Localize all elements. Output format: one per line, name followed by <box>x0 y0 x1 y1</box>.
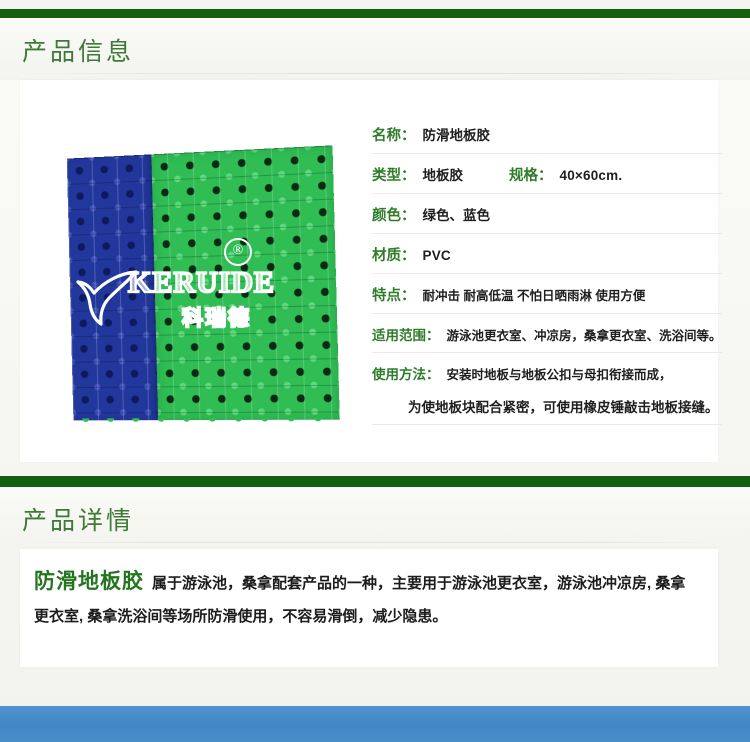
product-info-section-header: 产品信息 <box>0 18 750 80</box>
spec-value-size: 40×60cm. <box>560 168 623 183</box>
spec-label: 材质： <box>372 244 416 265</box>
spec-label-size: 规格： <box>509 164 553 185</box>
mat-grid-overlay <box>67 145 340 420</box>
mid-green-rule <box>0 476 750 487</box>
spec-value: PVC <box>423 248 451 263</box>
product-detail-section-header: 产品详情 <box>0 487 750 549</box>
spec-value: 耐冲击 耐高低温 不怕日晒雨淋 使用方便 <box>423 285 646 304</box>
spec-value: 地板胶 <box>423 164 464 184</box>
spec-label: 使用方法： <box>372 363 440 383</box>
spec-row-color: 颜色： 绿色、蓝色 <box>372 204 722 234</box>
mat-edge-connectors <box>73 418 340 428</box>
product-info-title: 产品信息 <box>22 32 134 68</box>
spec-list: 名称： 防滑地板胶 类型： 地板胶 规格： 40×60cm. 颜色： 绿色、蓝色… <box>372 124 722 435</box>
spec-row-usage: 使用方法： 安装时地板与地板公扣与母扣衔接而成， 为使地板块配合紧密，可使用橡皮… <box>372 363 722 425</box>
spec-value: 防滑地板胶 <box>423 124 491 144</box>
spec-row-type: 类型： 地板胶 规格： 40×60cm. <box>372 164 722 194</box>
spec-value: 绿色、蓝色 <box>423 204 491 224</box>
spec-row-applications: 适用范围： 游泳池更衣室、冲凉房，桑拿更衣室、洗浴间等。 <box>372 324 722 353</box>
product-info-card: KERUIDE 科瑞德 ® 名称： 防滑地板胶 类型： 地板胶 规格： 40×6… <box>20 80 718 462</box>
product-detail-title: 产品详情 <box>22 501 134 537</box>
header-underline <box>20 73 718 74</box>
spec-row-features: 特点： 耐冲击 耐高低温 不怕日晒雨淋 使用方便 <box>372 284 722 314</box>
product-detail-body: 防滑地板胶属于游泳池，桑拿配套产品的一种，主要用于游泳池更衣室，游泳池冲凉房, … <box>20 549 718 633</box>
spec-row-material: 材质： PVC <box>372 244 722 274</box>
product-detail-card: 防滑地板胶属于游泳池，桑拿配套产品的一种，主要用于游泳池更衣室，游泳池冲凉房, … <box>20 549 718 667</box>
spec-value: 游泳池更衣室、冲凉房，桑拿更衣室、洗浴间等。 <box>447 325 722 344</box>
spec-label: 特点： <box>372 284 416 305</box>
spec-row-name: 名称： 防滑地板胶 <box>372 124 722 154</box>
top-green-rule <box>0 9 750 18</box>
product-detail-heading: 防滑地板胶 <box>34 570 144 593</box>
spec-label: 类型： <box>372 164 416 185</box>
spec-label: 适用范围： <box>372 324 440 344</box>
product-description: 防滑地板胶属于游泳池，桑拿配套产品的一种，主要用于游泳池更衣室，游泳池冲凉房, … <box>34 565 696 633</box>
spec-value: 安装时地板与地板公扣与母扣衔接而成， <box>447 364 672 383</box>
header-underline <box>20 542 718 543</box>
interlocking-tile-mat <box>67 145 340 420</box>
product-image: KERUIDE 科瑞德 ® <box>54 142 354 442</box>
spec-label: 名称： <box>372 124 416 145</box>
product-info-page: 产品信息 KERUIDE 科瑞德 ® 名称： <box>0 9 750 742</box>
footer-blue-band <box>0 706 750 742</box>
spec-label: 颜色： <box>372 204 416 225</box>
spec-value-line2: 为使地板块配合紧密，可使用橡皮锤敲击地板接缝。 <box>408 396 722 416</box>
